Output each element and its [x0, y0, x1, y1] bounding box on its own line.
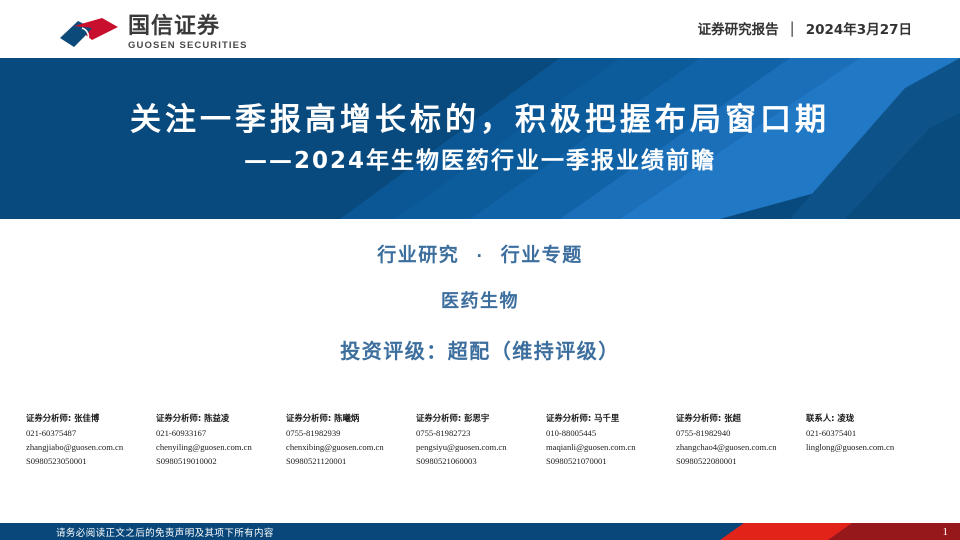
analyst-license-code: S0980521060003: [416, 455, 546, 469]
analyst-license-code: S0980522080001: [676, 455, 806, 469]
analyst-card: 证券分析师: 张超 0755-81982940 zhangchao4@guose…: [676, 412, 806, 469]
analyst-license-code: S0980519010002: [156, 455, 286, 469]
analyst-license-code: S0980521070001: [546, 455, 676, 469]
analyst-email[interactable]: chenyiling@guosen.com.cn: [156, 441, 286, 455]
brand-name-en: GUOSEN SECURITIES: [128, 40, 248, 51]
analyst-phone: 0755-81982723: [416, 427, 546, 441]
analyst-email[interactable]: pengsiyu@guosen.com.cn: [416, 441, 546, 455]
contact-person-phone: 021-60375401: [806, 427, 936, 441]
analyst-email[interactable]: chenxibing@guosen.com.cn: [286, 441, 416, 455]
research-category-line: 行业研究 · 行业专题: [377, 240, 582, 267]
guosen-logo-icon: [58, 16, 120, 50]
footer-disclaimer: 请务必阅读正文之后的免责声明及其项下所有内容: [56, 525, 274, 539]
category-separator-dot: ·: [467, 247, 492, 265]
industry-name: 医药生物: [441, 287, 519, 313]
analyst-name: 证券分析师: 陈曦炳: [286, 412, 416, 425]
header-divider: |: [788, 19, 797, 37]
analyst-name: 证券分析师: 张超: [676, 412, 806, 425]
report-subtitle: ——2024年生物医药行业一季报业绩前瞻: [244, 149, 716, 174]
analyst-phone: 010-88005445: [546, 427, 676, 441]
banner-text-group: 关注一季报高增长标的，积极把握布局窗口期 ——2024年生物医药行业一季报业绩前…: [0, 58, 960, 219]
report-type-label: 证券研究报告: [698, 18, 779, 38]
analyst-email[interactable]: zhangchao4@guosen.com.cn: [676, 441, 806, 455]
page-header: 国信证券 GUOSEN SECURITIES 证券研究报告 | 2024年3月2…: [0, 0, 960, 58]
analyst-email[interactable]: zhangjiabo@guosen.com.cn: [26, 441, 156, 455]
brand-name-cn: 国信证券: [128, 15, 248, 38]
brand-logo: 国信证券 GUOSEN SECURITIES: [58, 14, 248, 51]
analyst-name: 证券分析师: 陈益凌: [156, 412, 286, 425]
contact-person-name: 联系人: 凌珑: [806, 412, 936, 425]
analyst-card: 证券分析师: 张佳博 021-60375487 zhangjiabo@guose…: [26, 412, 156, 469]
analyst-name: 证券分析师: 张佳博: [26, 412, 156, 425]
research-category: 行业研究: [377, 244, 459, 266]
analyst-name: 证券分析师: 马千里: [546, 412, 676, 425]
report-title: 关注一季报高增长标的，积极把握布局窗口期: [130, 103, 830, 137]
investment-rating: 投资评级：超配（维持评级）: [340, 335, 620, 364]
analyst-card: 证券分析师: 陈益凌 021-60933167 chenyiling@guose…: [156, 412, 286, 469]
report-date: 2024年3月27日: [806, 18, 912, 38]
contact-person-card: 联系人: 凌珑 021-60375401 linglong@guosen.com…: [806, 412, 936, 469]
analyst-phone: 021-60933167: [156, 427, 286, 441]
report-info-block: 行业研究 · 行业专题 医药生物 投资评级：超配（维持评级）: [0, 240, 960, 364]
title-banner: 关注一季报高增长标的，积极把握布局窗口期 ——2024年生物医药行业一季报业绩前…: [0, 58, 960, 219]
research-subcategory: 行业专题: [501, 244, 583, 266]
analyst-card: 证券分析师: 马千里 010-88005445 maqianli@guosen.…: [546, 412, 676, 469]
analyst-phone: 0755-81982939: [286, 427, 416, 441]
analyst-card: 证券分析师: 彭思宇 0755-81982723 pengsiyu@guosen…: [416, 412, 546, 469]
analyst-contact-list: 证券分析师: 张佳博 021-60375487 zhangjiabo@guose…: [26, 412, 938, 469]
analyst-license-code: S0980523050001: [26, 455, 156, 469]
analyst-phone: 0755-81982940: [676, 427, 806, 441]
contact-person-email[interactable]: linglong@guosen.com.cn: [806, 441, 936, 455]
analyst-card: 证券分析师: 陈曦炳 0755-81982939 chenxibing@guos…: [286, 412, 416, 469]
header-meta: 证券研究报告 | 2024年3月27日: [698, 18, 912, 38]
page-footer: 请务必阅读正文之后的免责声明及其项下所有内容 1: [0, 523, 960, 540]
analyst-license-code: S0980521120001: [286, 455, 416, 469]
page-number: 1: [943, 526, 949, 538]
footer-decoration-graphic: [700, 523, 960, 540]
analyst-email[interactable]: maqianli@guosen.com.cn: [546, 441, 676, 455]
brand-logo-text: 国信证券 GUOSEN SECURITIES: [128, 14, 248, 51]
analyst-name: 证券分析师: 彭思宇: [416, 412, 546, 425]
analyst-phone: 021-60375487: [26, 427, 156, 441]
